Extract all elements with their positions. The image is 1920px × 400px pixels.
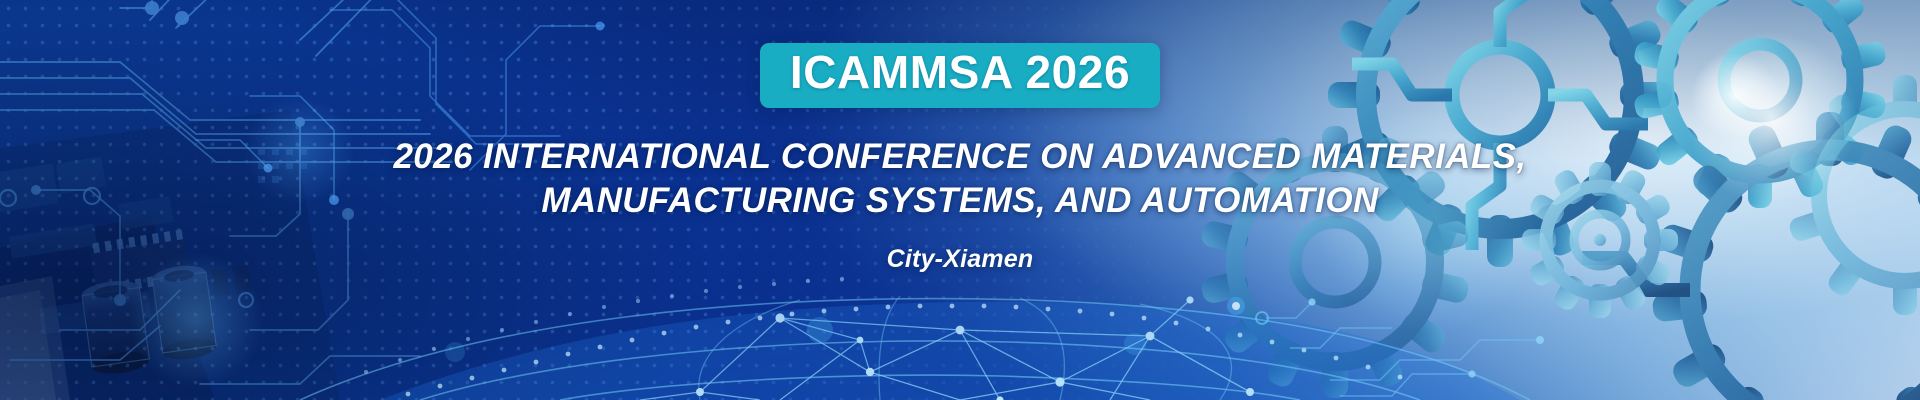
conference-banner: ICAMMSA 2026 2026 INTERNATIONAL CONFEREN… bbox=[0, 0, 1920, 400]
conference-title-line-2: MANUFACTURING SYSTEMS, AND AUTOMATION bbox=[220, 179, 1700, 223]
conference-title-line-1: 2026 INTERNATIONAL CONFERENCE ON ADVANCE… bbox=[220, 135, 1700, 179]
conference-acronym-badge: ICAMMSA 2026 bbox=[760, 43, 1160, 108]
conference-acronym-text: ICAMMSA 2026 bbox=[790, 47, 1130, 99]
conference-full-title: 2026 INTERNATIONAL CONFERENCE ON ADVANCE… bbox=[220, 135, 1700, 223]
banner-content: ICAMMSA 2026 2026 INTERNATIONAL CONFEREN… bbox=[0, 0, 1920, 400]
conference-location: City-Xiamen bbox=[887, 245, 1034, 274]
